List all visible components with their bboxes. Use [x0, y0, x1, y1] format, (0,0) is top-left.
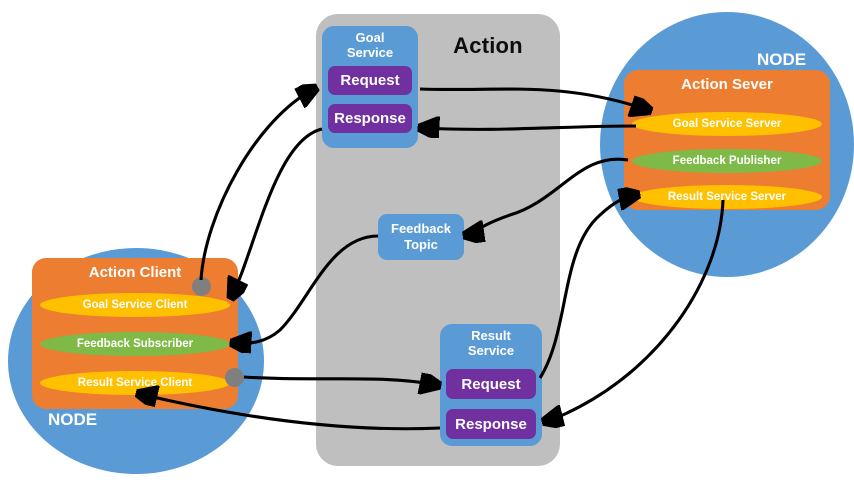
result-service-title-line1: Result	[440, 328, 542, 343]
pill-result-service-client[interactable]: Result Service Client	[40, 371, 230, 395]
goal-service-box: Goal Service Request Response	[322, 26, 418, 148]
pill-goal-service-client[interactable]: Goal Service Client	[40, 293, 230, 317]
action-server-panel: Action Sever Goal Service Server Feedbac…	[624, 70, 830, 210]
connector-dot-goal-client	[192, 277, 211, 296]
goal-service-title: Goal Service	[322, 30, 418, 60]
connector-dot-result-client	[225, 368, 244, 387]
feedback-topic-title-line1: Feedback	[391, 221, 451, 237]
pill-goal-service-server[interactable]: Goal Service Server	[632, 112, 822, 136]
feedback-topic-box[interactable]: Feedback Topic	[378, 214, 464, 260]
arrow-goalresponse-to-goalclient	[232, 129, 322, 296]
result-service-request[interactable]: Request	[446, 369, 536, 399]
goal-service-request[interactable]: Request	[328, 66, 412, 95]
action-server-title: Action Sever	[624, 76, 830, 93]
result-service-title: Result Service	[440, 328, 542, 358]
pill-feedback-publisher[interactable]: Feedback Publisher	[632, 149, 822, 173]
goal-service-response[interactable]: Response	[328, 104, 412, 133]
action-title: Action	[438, 33, 538, 59]
feedback-topic-title-line2: Topic	[404, 237, 438, 253]
goal-service-title-line1: Goal	[322, 30, 418, 45]
node-label-client: NODE	[48, 410, 97, 430]
pill-feedback-subscriber[interactable]: Feedback Subscriber	[40, 332, 230, 356]
result-service-response[interactable]: Response	[446, 409, 536, 439]
goal-service-title-line2: Service	[322, 45, 418, 60]
node-label-server: NODE	[757, 50, 806, 70]
arrow-goalclient-to-goalrequest	[201, 89, 314, 280]
pill-result-service-server[interactable]: Result Service Server	[632, 185, 822, 209]
result-service-title-line2: Service	[440, 343, 542, 358]
diagram-canvas: Action NODE Action Sever Goal Service Se…	[0, 0, 854, 480]
result-service-box: Result Service Request Response	[440, 324, 542, 446]
